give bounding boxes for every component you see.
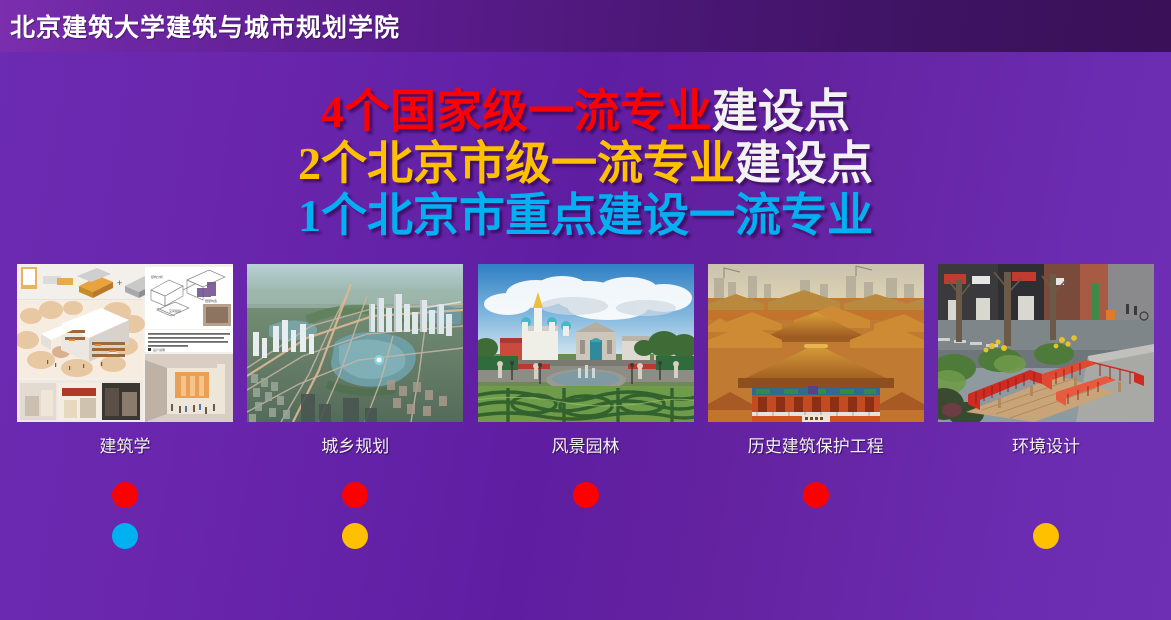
badge-dot-empty [1033,482,1059,508]
badge-cell-landscape-row1 [478,482,694,508]
svg-text:设计说明: 设计说明 [153,347,165,352]
header-bar: 北京建筑大学建筑与城市规划学院 [0,0,1171,52]
badge-dot-gold [1033,523,1059,549]
badge-row-national [17,482,1154,508]
badge-cell-heritage-row1 [708,482,924,508]
headline-line-2: 2个北京市级一流专业建设点 [0,138,1171,190]
forbidden-city-rooftops-thumbnail[interactable] [708,264,924,422]
program-caption-urban-planning: 城乡规划 [247,437,463,457]
headline-block: 4个国家级一流专业建设点 2个北京市级一流专业建设点 1个北京市重点建设一流专业 [0,86,1171,242]
badge-dot-red [112,482,138,508]
badge-cell-environmental-row1 [938,482,1154,508]
program-caption-architecture: 建筑学 [17,437,233,457]
svg-text:+: + [117,278,122,288]
headline-tail-national: 建设点 [712,86,850,137]
badge-cell-heritage-row2 [708,523,924,549]
headline-emphasis-national: 4个国家级一流专业 [321,86,712,137]
streetscape-red-benches-thumbnail[interactable] [938,264,1154,422]
svg-text:细部构造: 细部构造 [205,298,217,303]
badge-row-municipal [17,523,1154,549]
urban-planning-aerial-render-thumbnail[interactable] [247,264,463,422]
badge-cell-landscape-row2 [478,523,694,549]
program-caption-environmental-design: 环境设计 [938,437,1154,457]
formal-garden-parterre-thumbnail[interactable] [478,264,694,422]
page-title: 北京建筑大学建筑与城市规划学院 [10,8,400,44]
badge-dot-empty [803,523,829,549]
program-caption-row: 建筑学 城乡规划 风景园林 历史建筑保护工程 环境设计 [17,437,1154,457]
headline-tail-municipal: 建设点 [735,138,873,189]
badge-cell-environmental-row2 [938,523,1154,549]
badge-dot-cyan [112,523,138,549]
headline-line-1: 4个国家级一流专业建设点 [0,86,1171,138]
program-caption-heritage-conservation: 历史建筑保护工程 [708,437,924,457]
headline-emphasis-municipal: 2个北京市级一流专业 [298,138,735,189]
badge-dot-red [803,482,829,508]
badge-dot-gold [342,523,368,549]
badge-cell-urban-planning-row2 [247,523,463,549]
program-thumbnail-row: + + [17,264,1154,422]
badge-dot-red [573,482,599,508]
badge-cell-architecture-row2 [17,523,233,549]
architecture-design-board-thumbnail[interactable]: + + [17,264,233,422]
program-caption-landscape: 风景园林 [478,437,694,457]
badge-dot-red [342,482,368,508]
badge-cell-urban-planning-row1 [247,482,463,508]
svg-text:结构分析: 结构分析 [151,274,163,279]
badge-cell-architecture-row1 [17,482,233,508]
headline-emphasis-key: 1个北京市重点建设一流专业 [298,190,873,241]
headline-line-3: 1个北京市重点建设一流专业 [0,190,1171,242]
badge-dot-empty [573,523,599,549]
svg-text:空间组织: 空间组织 [169,308,181,313]
